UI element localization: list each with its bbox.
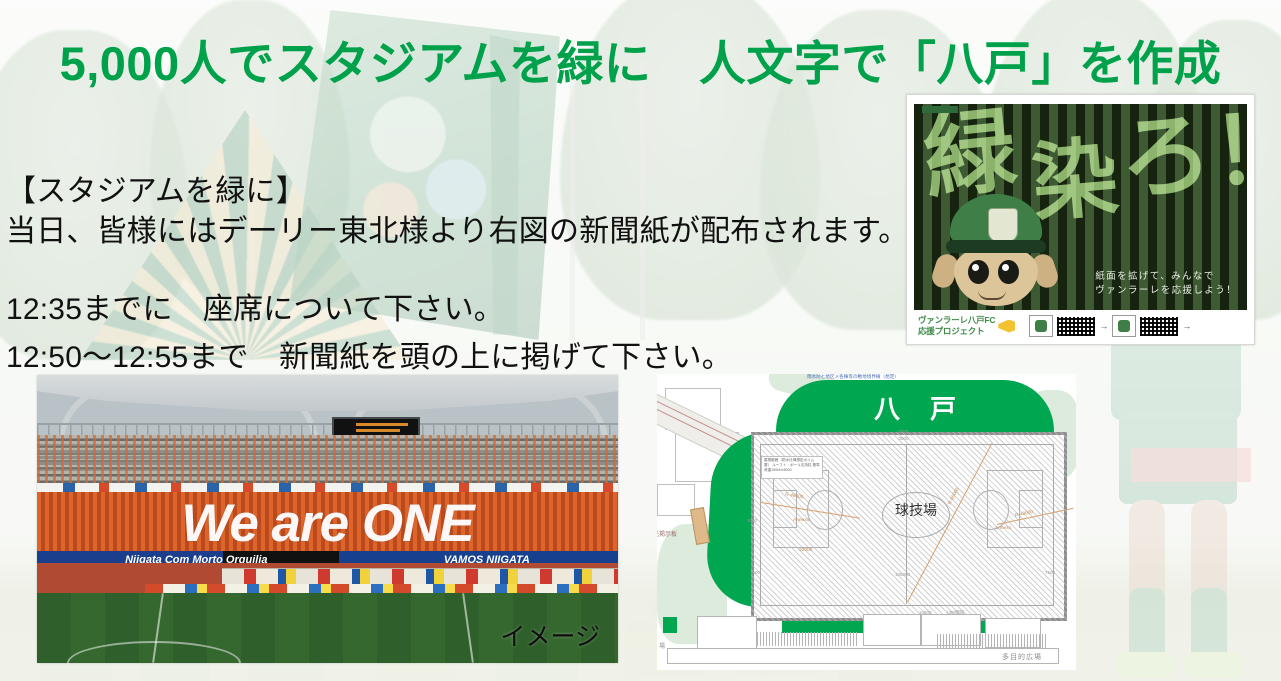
plan-annexo-label-right: Annexo <box>995 526 1011 531</box>
plan-bottom-label: 多目的広場 <box>1002 652 1042 662</box>
plan-dim-3000-top: -3000 <box>897 436 909 441</box>
stadium-plan-drawing: 雨水防と地区メ各棟等の敷地境界線（想定） 場 八戸 球技場 屋根範囲（防水仕様想… <box>657 374 1076 670</box>
plan-center-label: 球技場 <box>885 500 947 520</box>
plan-south-stand-edge <box>663 617 677 633</box>
plan-seating-hatch <box>757 632 857 646</box>
plan-dim-1500: 1500 <box>747 518 757 523</box>
newspaper-caption-line-2: ヴァンラーレを応援しよう！ <box>1095 284 1237 298</box>
page-title: 5,000人でスタジアムを緑に 人文字で「八戸」を作成 <box>0 38 1281 90</box>
newspaper-caption-line-1: 紙面を拡げて、みんなで <box>1095 270 1237 284</box>
calligraphy-char-1: 緑 <box>920 109 1020 200</box>
plan-facility-box <box>667 648 1059 664</box>
plan-seating-hatch <box>937 634 1047 648</box>
calligraphy-char-3: ろ！ <box>1117 106 1247 203</box>
mascot-hat-brim <box>946 240 1046 253</box>
newspaper-photo: 緑 染 ろ！ 紙面を拡げて、みんなで ヴァンラーレを応援しよう！ <box>914 104 1247 310</box>
stadium-tifo-photo: We are ONE Niigata Com Morto Orquilia VA… <box>37 375 618 663</box>
photo-caption: イメージ <box>500 617 600 653</box>
newspaper-grid-icon <box>1057 317 1095 336</box>
mascot-badge <box>988 208 1018 242</box>
plan-facility-box <box>863 614 921 646</box>
plan-dim-22000: 22000 <box>799 548 812 553</box>
project-logo-text: ヴァンラーレ八戸FC 応援プロジェクト <box>918 315 995 337</box>
mascot-eye-left <box>968 260 989 284</box>
body-line-1: 当日、皆様にはデーリー東北様より右図の新聞紙が配布されます。 <box>6 212 908 252</box>
plan-roof-note: 屋根範囲（防水仕様想定ポイム層） ルーフト・ボール支持柱 基準荷重150kN×8… <box>761 456 823 479</box>
plan-left-note: 場 <box>659 641 665 650</box>
mascot-eye-right <box>998 260 1019 284</box>
plan-dim-105000: 105000 <box>895 572 910 577</box>
tifo-card-stunt-text: We are ONE <box>37 493 618 553</box>
plan-penalty-arc-right <box>973 490 1009 530</box>
plan-facility-box <box>697 616 757 652</box>
plan-annexo-label-left: Annexo <box>793 518 809 523</box>
newspaper-grid-icon <box>1140 317 1178 336</box>
mascot-icon <box>936 194 1054 310</box>
body-heading: 【スタジアムを緑に】 <box>6 172 908 212</box>
newspaper-caption: 紙面を拡げて、みんなで ヴァンラーレを応援しよう！ <box>1095 270 1237 298</box>
plan-goal-area-right <box>1019 490 1043 528</box>
body-text-block: 【スタジアムを緑に】 当日、皆様にはデーリー東北様より右図の新聞紙が配布されます… <box>6 172 908 252</box>
slide-root: 5,000人でスタジアムを緑に 人文字で「八戸」を作成 【スタジアムを緑に】 当… <box>0 0 1281 681</box>
newspaper-footer: ヴァンラーレ八戸FC 応援プロジェクト → → <box>914 312 1247 340</box>
schedule-block: 12:35までに 座席について下さい。 12:50〜12:55まで 新聞紙を頭の… <box>6 286 732 382</box>
plan-scoreboard-label: 光掲示板 <box>657 529 677 538</box>
newspaper-masthead-tag <box>922 106 958 113</box>
mascot-mini-icon <box>1029 315 1053 337</box>
plan-dim-7500-left: 7500 <box>750 570 760 575</box>
arrow-right-icon: → <box>1099 321 1108 331</box>
newspaper-image: 緑 染 ろ！ 紙面を拡げて、みんなで ヴァンラーレを応援しよう！ <box>906 94 1255 345</box>
arrow-right-icon: → <box>1182 321 1191 331</box>
megaphone-icon <box>998 320 1015 333</box>
fold-instruction-sequence: → → <box>1029 315 1191 337</box>
stadium-upper-crowd <box>37 435 618 483</box>
plan-dim-7500-top: -7500 <box>897 429 909 434</box>
plan-north-stand-hachinohe: 八戸 <box>776 380 1054 434</box>
plan-dim-7500-right: 7500 <box>1045 570 1055 575</box>
stadium-sponsor-signs <box>37 483 618 492</box>
schedule-line-1: 12:35までに 座席について下さい。 <box>6 286 732 334</box>
mascot-mini-icon <box>1112 315 1136 337</box>
